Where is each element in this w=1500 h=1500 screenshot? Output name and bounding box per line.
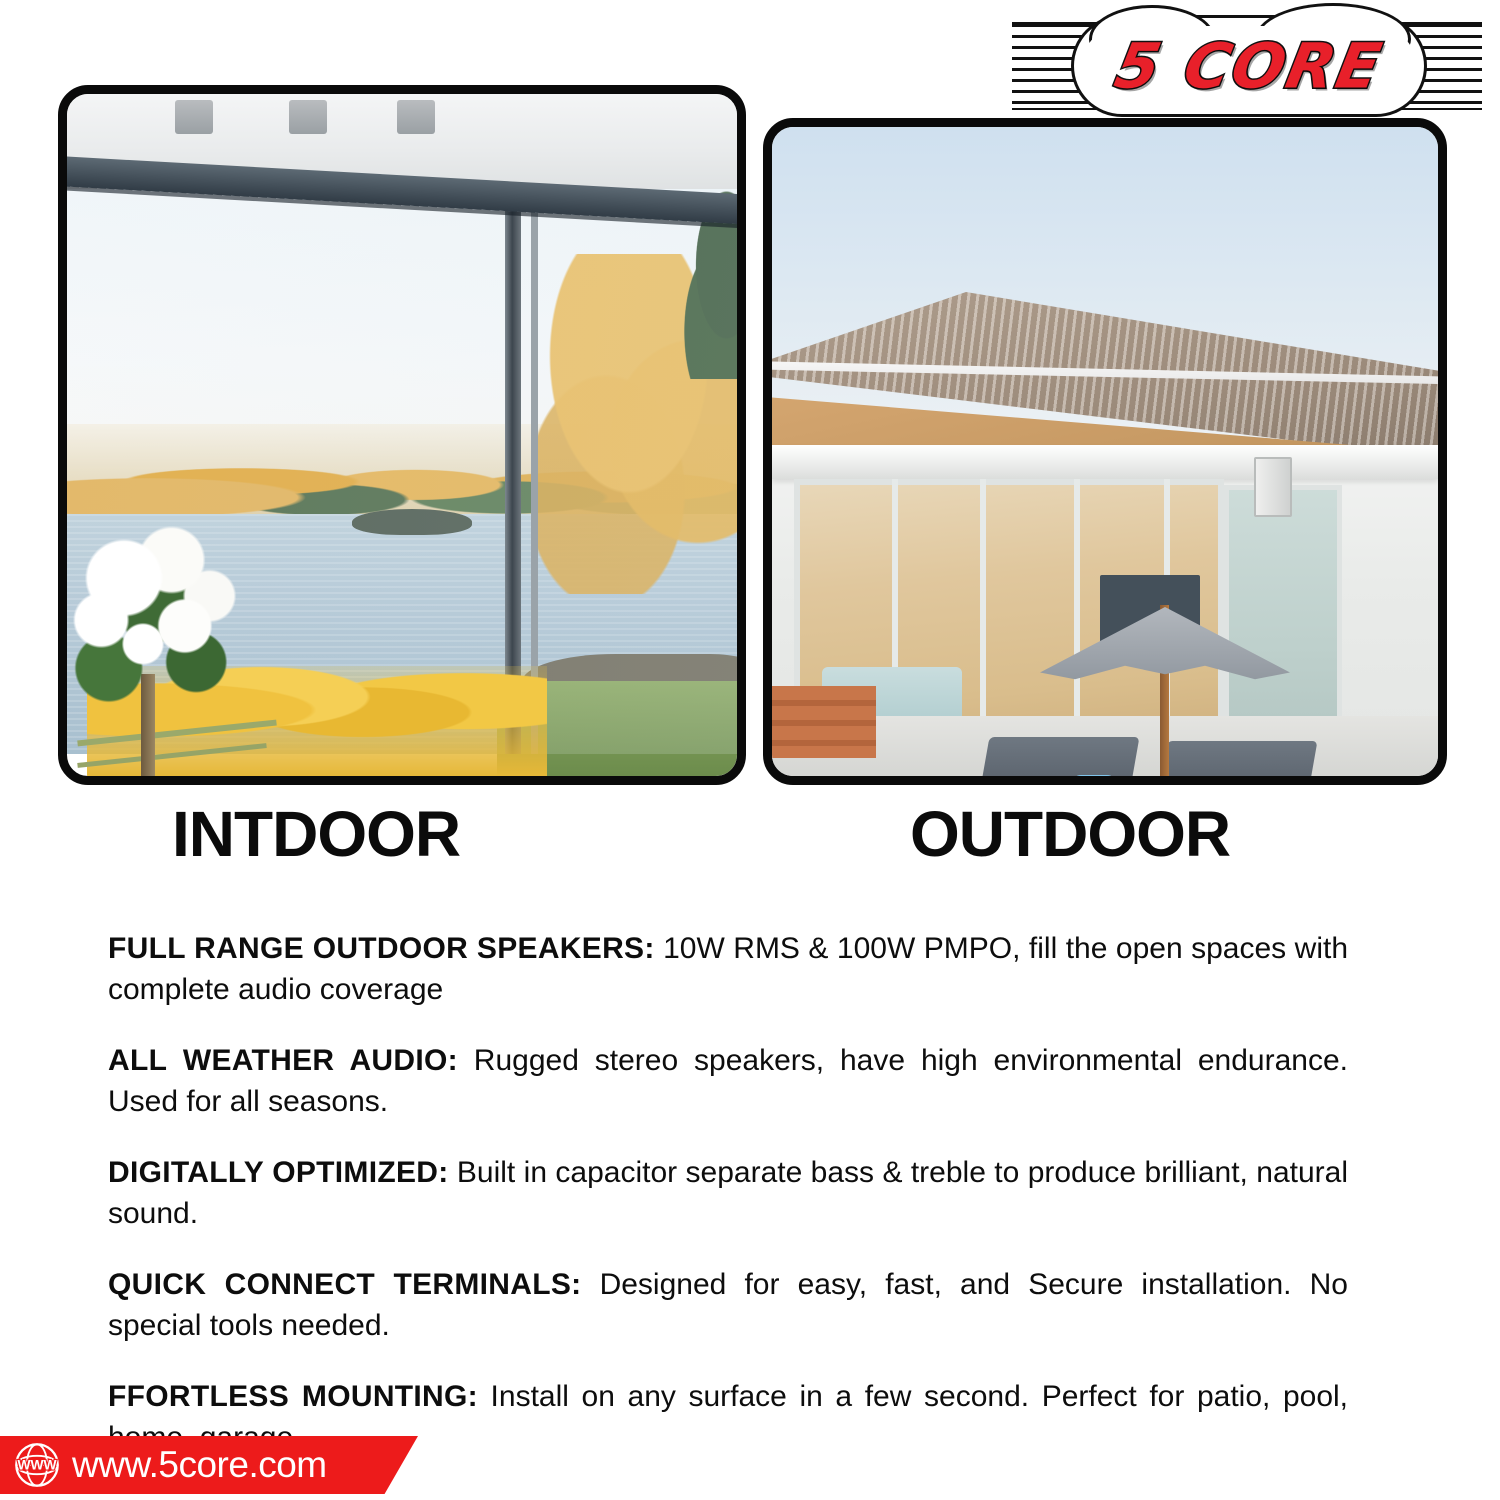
feature-item: ALL WEATHER AUDIO: Rugged stereo speaker… — [108, 1040, 1348, 1122]
website-footer-bar: WWW www.5core.com — [0, 1436, 418, 1494]
white-flowering-tree — [67, 524, 257, 776]
side-window-pane — [1224, 485, 1342, 753]
indoor-photo — [58, 85, 746, 785]
ceiling-bracket-1 — [175, 100, 213, 134]
tree-foliage — [67, 524, 257, 776]
feature-title: QUICK CONNECT TERMINALS: — [108, 1268, 581, 1301]
website-url[interactable]: www.5core.com — [72, 1444, 327, 1486]
heading-indoor: INTDOOR — [172, 798, 460, 870]
www-globe-icon: WWW — [14, 1442, 60, 1488]
feature-item: DIGITALLY OPTIMIZED: Built in capacitor … — [108, 1152, 1348, 1234]
heading-outdoor: OUTDOOR — [910, 798, 1230, 870]
feature-item: QUICK CONNECT TERMINALS: Designed for ea… — [108, 1264, 1348, 1346]
feature-title: FFORTLESS MOUNTING: — [108, 1380, 478, 1413]
patio-lounger-1 — [979, 737, 1140, 776]
blue-towel-1 — [1072, 775, 1116, 776]
svg-text:WWW: WWW — [17, 1458, 57, 1473]
feature-item: FULL RANGE OUTDOOR SPEAKERS: 10W RMS & 1… — [108, 928, 1348, 1010]
indoor-photo-scene — [67, 94, 737, 776]
brand-logo: 5 CORE — [1012, 22, 1482, 110]
wall-cornice — [772, 445, 1438, 479]
feature-title: FULL RANGE OUTDOOR SPEAKERS: — [108, 932, 655, 965]
outdoor-photo-scene — [772, 127, 1438, 776]
outdoor-photo — [763, 118, 1447, 785]
feature-list: FULL RANGE OUTDOOR SPEAKERS: 10W RMS & 1… — [108, 898, 1348, 1458]
patio-lounger-2 — [1157, 741, 1318, 776]
ceiling-bracket-3 — [397, 100, 435, 134]
feature-title: ALL WEATHER AUDIO: — [108, 1044, 458, 1077]
panel-headings: INTDOOR OUTDOOR — [58, 798, 1448, 870]
ceiling-bracket-2 — [289, 100, 327, 134]
wall-mounted-speaker — [1254, 457, 1292, 517]
brand-logo-text: 5 CORE — [1071, 30, 1427, 103]
feature-title: DIGITALLY OPTIMIZED: — [108, 1156, 449, 1189]
patio-steps — [772, 686, 876, 758]
